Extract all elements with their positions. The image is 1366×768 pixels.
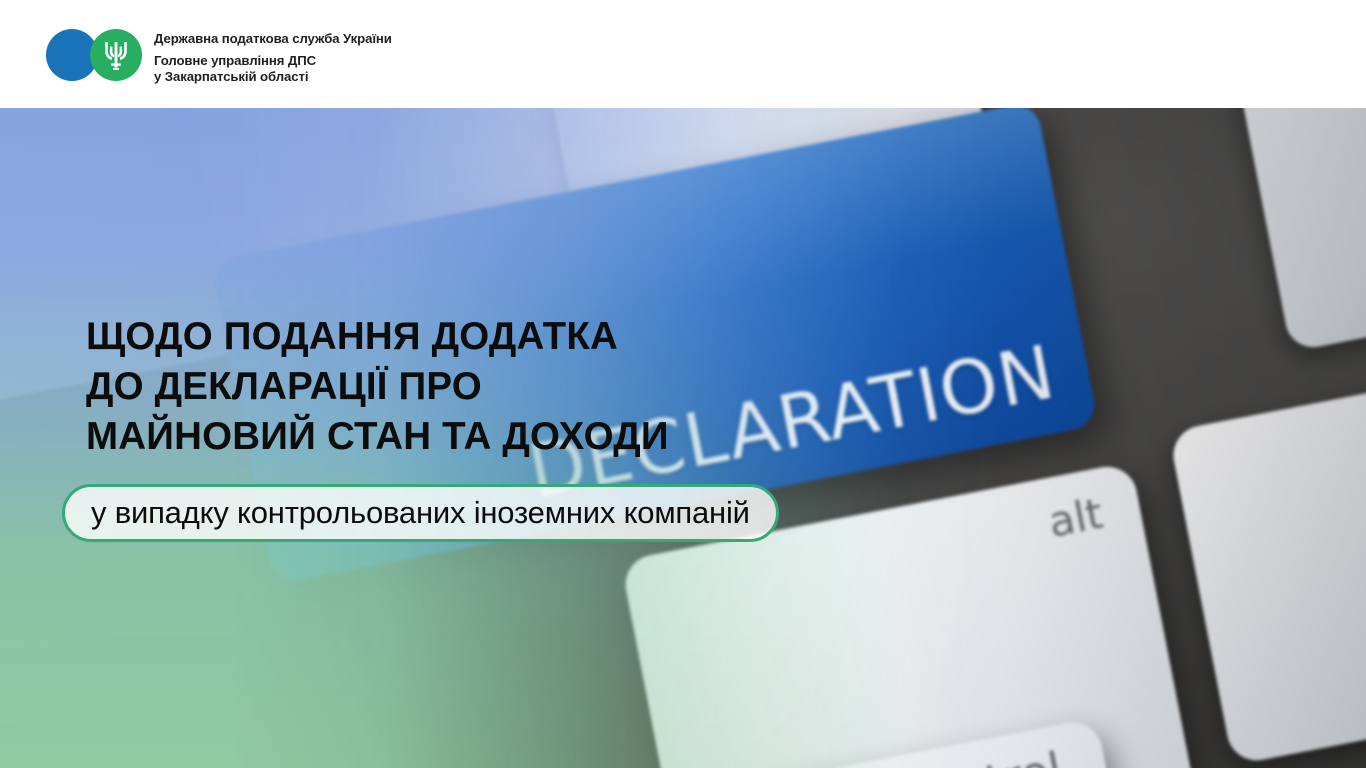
green-circle-icon xyxy=(90,29,142,81)
page-title: ЩОДО ПОДАННЯ ДОДАТКА ДО ДЕКЛАРАЦІЇ ПРО М… xyxy=(86,312,669,462)
org-line-1: Державна податкова служба України xyxy=(154,31,392,48)
ukraine-trident-icon xyxy=(103,39,129,71)
organization-name: Державна податкова служба України Головн… xyxy=(154,29,392,86)
org-line-3: у Закарпатській області xyxy=(154,69,392,86)
org-line-2: Головне управління ДПС xyxy=(154,53,392,70)
organization-logo[interactable]: Державна податкова служба України Головн… xyxy=(46,29,392,86)
headline-line-3: МАЙНОВИЙ СТАН ТА ДОХОДИ xyxy=(86,412,669,462)
logo-marks xyxy=(46,29,142,81)
subtitle-pill: у випадку контрольованих іноземних компа… xyxy=(62,484,779,542)
hero-banner: return DECLARATION alt control ЩОДО ПОДА… xyxy=(0,108,1366,768)
headline-line-2: ДО ДЕКЛАРАЦІЇ ПРО xyxy=(86,362,669,412)
slide-canvas: return DECLARATION alt control ЩОДО ПОДА… xyxy=(0,0,1366,768)
subtitle-text: у випадку контрольованих іноземних компа… xyxy=(91,495,750,531)
headline-line-1: ЩОДО ПОДАННЯ ДОДАТКА xyxy=(86,312,669,362)
site-header: Державна податкова служба України Головн… xyxy=(0,0,1366,108)
